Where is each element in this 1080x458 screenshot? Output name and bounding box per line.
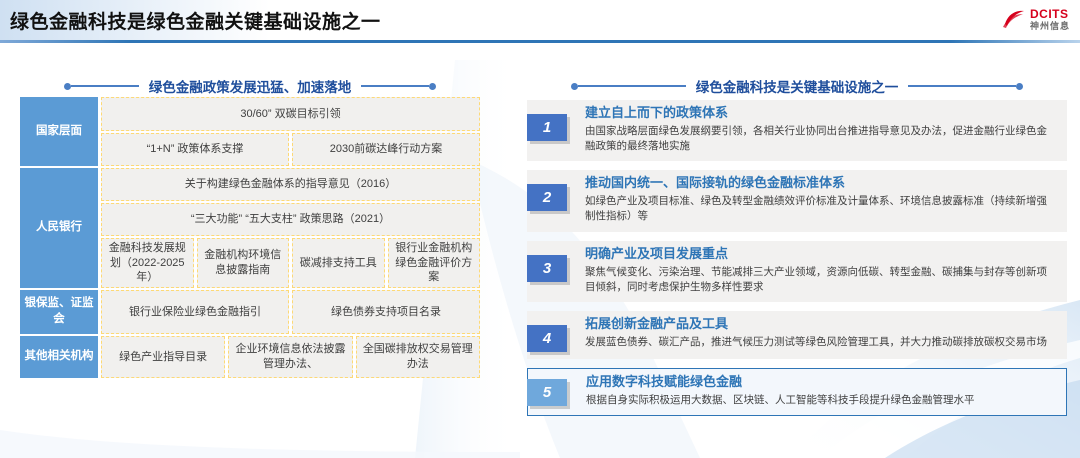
- matrix-row: 人民银行 关于构建绿色金融体系的指导意见（2016） “三大功能” “五大支柱”…: [20, 168, 480, 288]
- logo-name: DCITS: [1030, 8, 1070, 20]
- item-description: 聚焦气候变化、污染治理、节能减排三大产业领域，资源向低碳、转型金融、碳捕集与封存…: [585, 265, 1057, 295]
- item-title: 推动国内统一、国际接轨的绿色金融标准体系: [585, 175, 1057, 192]
- right-section-header: 绿色金融科技是关键基础设施之一: [527, 76, 1067, 96]
- dcits-swoosh-icon: [1002, 8, 1026, 30]
- item-number-badge: 3: [527, 255, 567, 282]
- list-item[interactable]: 2 推动国内统一、国际接轨的绿色金融标准体系 如绿色产业及项目标准、绿色及转型金…: [527, 170, 1067, 231]
- matrix-row-label: 国家层面: [20, 97, 98, 166]
- header-dot-left: [571, 83, 578, 90]
- item-title: 建立自上而下的政策体系: [585, 105, 1057, 122]
- policy-cell[interactable]: “三大功能” “五大支柱” 政策思路（2021）: [101, 203, 480, 236]
- item-number-badge: 4: [527, 325, 567, 352]
- policy-cell[interactable]: 金融机构环境信息披露指南: [197, 238, 290, 288]
- item-title: 拓展创新金融产品及工具: [585, 316, 1057, 333]
- title-divider: [0, 40, 1080, 43]
- item-number-badge: 5: [527, 379, 567, 406]
- slide-header: 绿色金融科技是绿色金融关键基础设施之一 DCITS 神州信息: [0, 0, 1080, 42]
- policy-cell[interactable]: “1+N” 政策体系支撑: [101, 133, 289, 166]
- right-section-title: 绿色金融科技是关键基础设施之一: [686, 76, 909, 96]
- header-rule-left: [71, 85, 139, 87]
- header-rule-right: [361, 85, 429, 87]
- policy-cell[interactable]: 30/60” 双碳目标引领: [101, 97, 480, 131]
- left-section-header: 绿色金融政策发展迅猛、加速落地: [20, 76, 480, 96]
- policy-cell[interactable]: 银行业金融机构绿色金融评价方案: [388, 238, 481, 288]
- matrix-band: “三大功能” “五大支柱” 政策思路（2021）: [101, 203, 480, 236]
- matrix-row-label: 其他相关机构: [20, 336, 98, 378]
- matrix-row: 国家层面 30/60” 双碳目标引领 “1+N” 政策体系支撑 2030前碳达峰…: [20, 97, 480, 166]
- header-dot-right: [429, 83, 436, 90]
- matrix-band: 绿色产业指导目录 企业环境信息依法披露管理办法、 全国碳排放权交易管理办法: [101, 336, 480, 378]
- matrix-band: “1+N” 政策体系支撑 2030前碳达峰行动方案: [101, 133, 480, 166]
- item-title: 应用数字科技赋能绿色金融: [586, 374, 1056, 391]
- policy-cell[interactable]: 金融科技发展规划（2022-2025年）: [101, 238, 194, 288]
- item-number-badge: 2: [527, 184, 567, 211]
- policy-cell[interactable]: 2030前碳达峰行动方案: [292, 133, 480, 166]
- policy-cell[interactable]: 全国碳排放权交易管理办法: [356, 336, 480, 378]
- item-number-badge: 1: [527, 114, 567, 141]
- header-rule-right: [908, 85, 1016, 87]
- header-dot-left: [64, 83, 71, 90]
- item-description: 由国家战略层面绿色发展纲要引领，各相关行业协同出台推进指导意见及办法，促进金融行…: [585, 124, 1057, 154]
- header-dot-right: [1016, 83, 1023, 90]
- left-section-title: 绿色金融政策发展迅猛、加速落地: [139, 76, 362, 96]
- policy-matrix: 国家层面 30/60” 双碳目标引领 “1+N” 政策体系支撑 2030前碳达峰…: [20, 97, 480, 380]
- policy-cell[interactable]: 关于构建绿色金融体系的指导意见（2016）: [101, 168, 480, 201]
- page-title: 绿色金融科技是绿色金融关键基础设施之一: [10, 7, 381, 34]
- matrix-row: 银保监、证监会 银行业保险业绿色金融指引 绿色债券支持项目名录: [20, 290, 480, 334]
- policy-cell[interactable]: 绿色债券支持项目名录: [292, 290, 480, 334]
- matrix-band: 30/60” 双碳目标引领: [101, 97, 480, 131]
- list-item[interactable]: 1 建立自上而下的政策体系 由国家战略层面绿色发展纲要引领，各相关行业协同出台推…: [527, 100, 1067, 161]
- matrix-band: 金融科技发展规划（2022-2025年） 金融机构环境信息披露指南 碳减排支持工…: [101, 238, 480, 288]
- policy-cell[interactable]: 银行业保险业绿色金融指引: [101, 290, 289, 334]
- matrix-row: 其他相关机构 绿色产业指导目录 企业环境信息依法披露管理办法、 全国碳排放权交易…: [20, 336, 480, 378]
- policy-cell[interactable]: 企业环境信息依法披露管理办法、: [228, 336, 352, 378]
- policy-cell[interactable]: 绿色产业指导目录: [101, 336, 225, 378]
- list-item[interactable]: 3 明确产业及项目发展重点 聚焦气候变化、污染治理、节能减排三大产业领域，资源向…: [527, 241, 1067, 302]
- list-item-highlighted[interactable]: 5 应用数字科技赋能绿色金融 根据自身实际积极运用大数据、区块链、人工智能等科技…: [527, 368, 1067, 416]
- matrix-band: 关于构建绿色金融体系的指导意见（2016）: [101, 168, 480, 201]
- key-points-list: 1 建立自上而下的政策体系 由国家战略层面绿色发展纲要引领，各相关行业协同出台推…: [527, 100, 1067, 425]
- list-item[interactable]: 4 拓展创新金融产品及工具 发展蓝色债券、碳汇产品，推进气候压力测试等绿色风险管…: [527, 311, 1067, 359]
- item-description: 发展蓝色债券、碳汇产品，推进气候压力测试等绿色风险管理工具，并大力推动碳排放碳权…: [585, 335, 1057, 350]
- item-title: 明确产业及项目发展重点: [585, 246, 1057, 263]
- header-rule-left: [578, 85, 686, 87]
- matrix-row-label: 人民银行: [20, 168, 98, 288]
- matrix-row-label: 银保监、证监会: [20, 290, 98, 334]
- policy-cell[interactable]: 碳减排支持工具: [292, 238, 385, 288]
- item-description: 如绿色产业及项目标准、绿色及转型金融绩效评价标准及计量体系、环境信息披露标准（持…: [585, 194, 1057, 224]
- logo-subname: 神州信息: [1030, 22, 1070, 31]
- item-description: 根据自身实际积极运用大数据、区块链、人工智能等科技手段提升绿色金融管理水平: [586, 393, 1056, 408]
- matrix-band: 银行业保险业绿色金融指引 绿色债券支持项目名录: [101, 290, 480, 334]
- brand-logo: DCITS 神州信息: [1002, 4, 1070, 34]
